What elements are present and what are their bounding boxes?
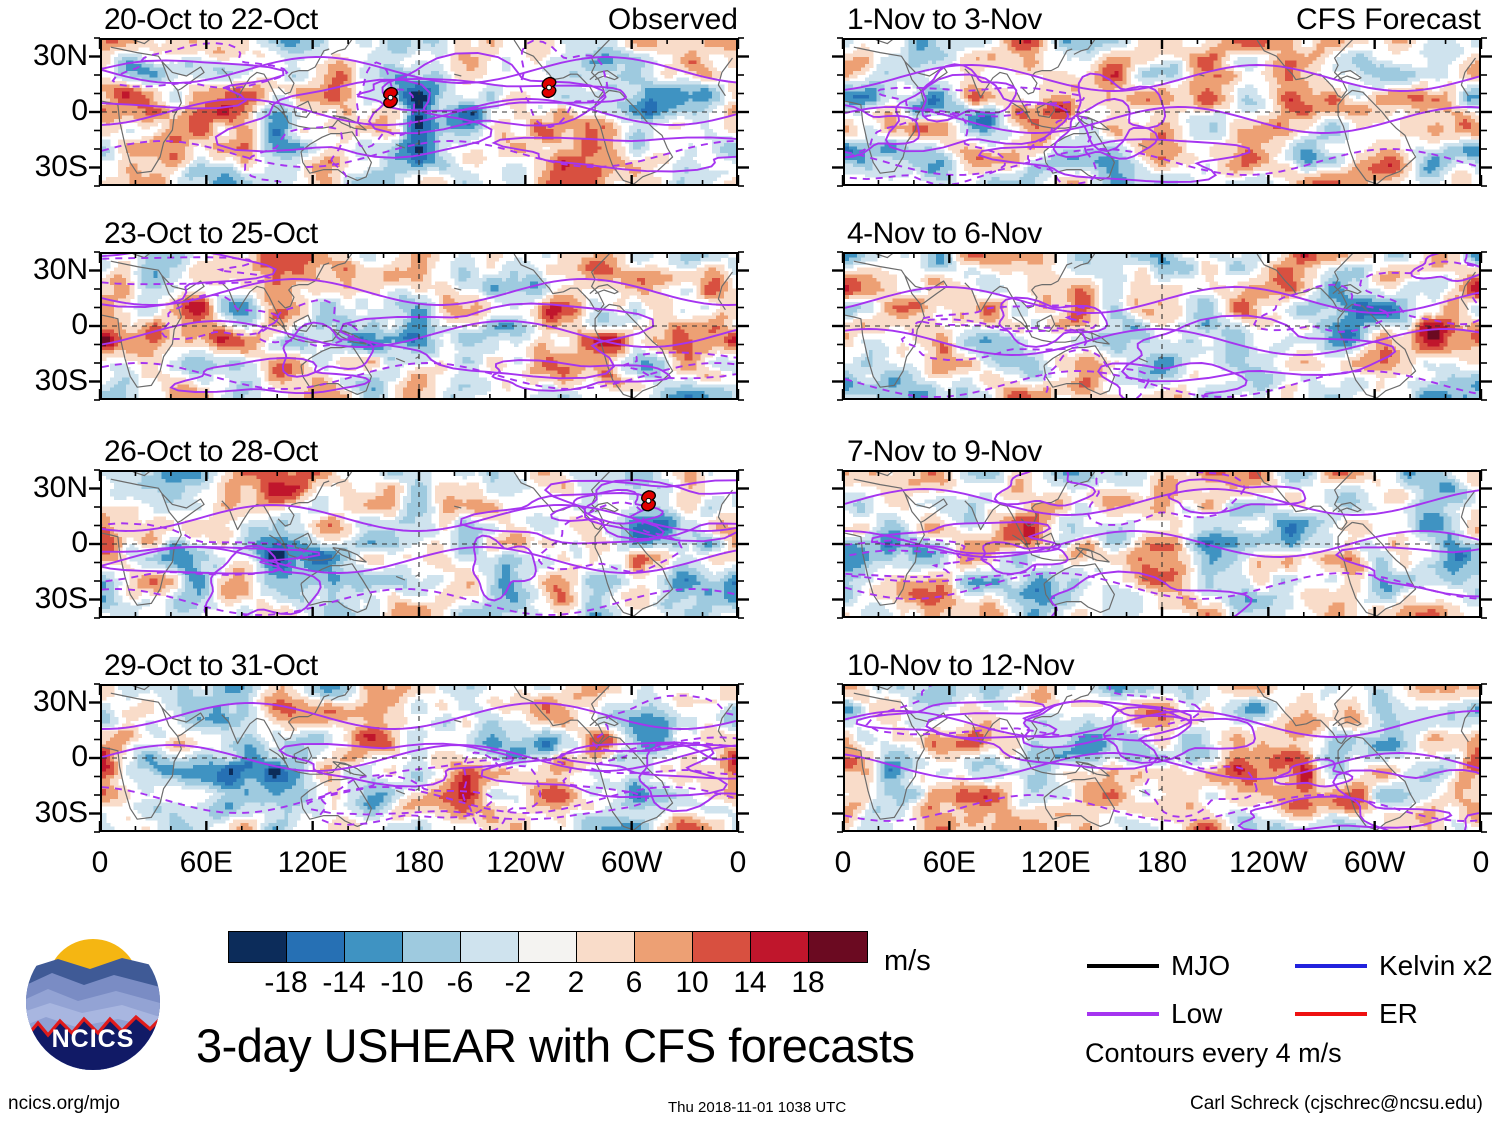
y-tick-label: 30N [0,255,88,285]
panel-title: 23-Oct to 25-Oct [104,219,318,249]
y-tick-label: 0 [0,528,88,558]
colorbar-swatch-7 [635,932,693,962]
x-tick-label: 0 [678,848,798,878]
y-tick-label: 30N [0,41,88,71]
legend-swatch-low [1087,1012,1159,1016]
ncics-logo: NCICS [18,933,168,1071]
footer-author: Carl Schreck (cjschrec@ncsu.edu) [1190,1094,1483,1113]
x-tick-label: 120W [465,848,585,878]
panel-title: 29-Oct to 31-Oct [104,651,318,681]
legend-swatch-kelvin [1295,964,1367,968]
colorbar-swatch-2 [345,932,403,962]
y-tick-label: 30S [0,366,88,396]
panel-title: 20-Oct to 22-Oct [104,5,318,35]
map-plot-area [843,470,1481,618]
map-plot-area [100,252,738,400]
colorbar-swatch-8 [693,932,751,962]
y-tick-label: 30S [0,152,88,182]
legend-label-er: ER [1379,1000,1418,1028]
legend-entry-er: ER [1295,1000,1418,1028]
panel-title: 7-Nov to 9-Nov [847,437,1042,467]
y-tick-label: 0 [0,310,88,340]
y-tick-label: 30S [0,584,88,614]
x-tick-label: 60E [146,848,266,878]
legend-label-kelvin: Kelvin x2 [1379,952,1493,980]
legend-entry-kelvin: Kelvin x2 [1295,952,1493,980]
tropical-cyclone-icon [642,491,656,511]
panel-title: 4-Nov to 6-Nov [847,219,1042,249]
panel-title: 10-Nov to 12-Nov [847,651,1074,681]
x-tick-label: 0 [40,848,160,878]
tropical-cyclone-icon [384,88,398,108]
x-tick-label: 60W [1315,848,1435,878]
colorbar-tick-label: 18 [768,968,848,998]
tropical-cyclone-icon [542,78,556,98]
x-tick-label: 120E [253,848,373,878]
colorbar-units-label: m/s [884,947,931,976]
colorbar-swatch-4 [461,932,519,962]
colorbar-swatch-3 [403,932,461,962]
colorbar-swatch-9 [751,932,809,962]
map-plot-area [843,252,1481,400]
map-plot-area [843,684,1481,832]
map-plot-area [843,38,1481,186]
legend-entry-mjo: MJO [1087,952,1230,980]
x-tick-label: 120W [1208,848,1328,878]
panel-title: 1-Nov to 3-Nov [847,5,1042,35]
y-tick-label: 30S [0,798,88,828]
x-tick-label: 120E [996,848,1116,878]
colorbar-swatch-6 [577,932,635,962]
x-tick-label: 180 [1102,848,1222,878]
x-tick-label: 60E [889,848,1009,878]
colorbar-swatch-10 [809,932,867,962]
panel-title: 26-Oct to 28-Oct [104,437,318,467]
colorbar [228,931,868,963]
contour-interval-note: Contours every 4 m/s [1085,1040,1342,1067]
x-tick-label: 0 [783,848,903,878]
main-title: 3-day USHEAR with CFS forecasts [196,1022,914,1069]
map-plot-area [100,38,738,186]
y-tick-label: 30N [0,473,88,503]
colorbar-swatch-1 [287,932,345,962]
footer-timestamp: Thu 2018-11-01 1038 UTC [668,1098,846,1117]
column-header-forecast: CFS Forecast [1291,5,1481,35]
x-tick-label: 180 [359,848,479,878]
legend-label-mjo: MJO [1171,952,1230,980]
x-tick-label: 60W [572,848,692,878]
y-tick-label: 0 [0,96,88,126]
legend-entry-low: Low [1087,1000,1222,1028]
y-tick-label: 30N [0,687,88,717]
ncics-logo-text: NCICS [18,1025,168,1054]
colorbar-swatch-0 [229,932,287,962]
map-plot-area [100,470,738,618]
column-header-observed: Observed [548,5,738,35]
legend-label-low: Low [1171,1000,1222,1028]
y-tick-label: 0 [0,742,88,772]
legend-swatch-er [1295,1012,1367,1016]
legend-swatch-mjo [1087,964,1159,968]
map-plot-area [100,684,738,832]
footer-site[interactable]: ncics.org/mjo [8,1094,120,1113]
colorbar-swatch-5 [519,932,577,962]
x-tick-label: 0 [1421,848,1510,878]
